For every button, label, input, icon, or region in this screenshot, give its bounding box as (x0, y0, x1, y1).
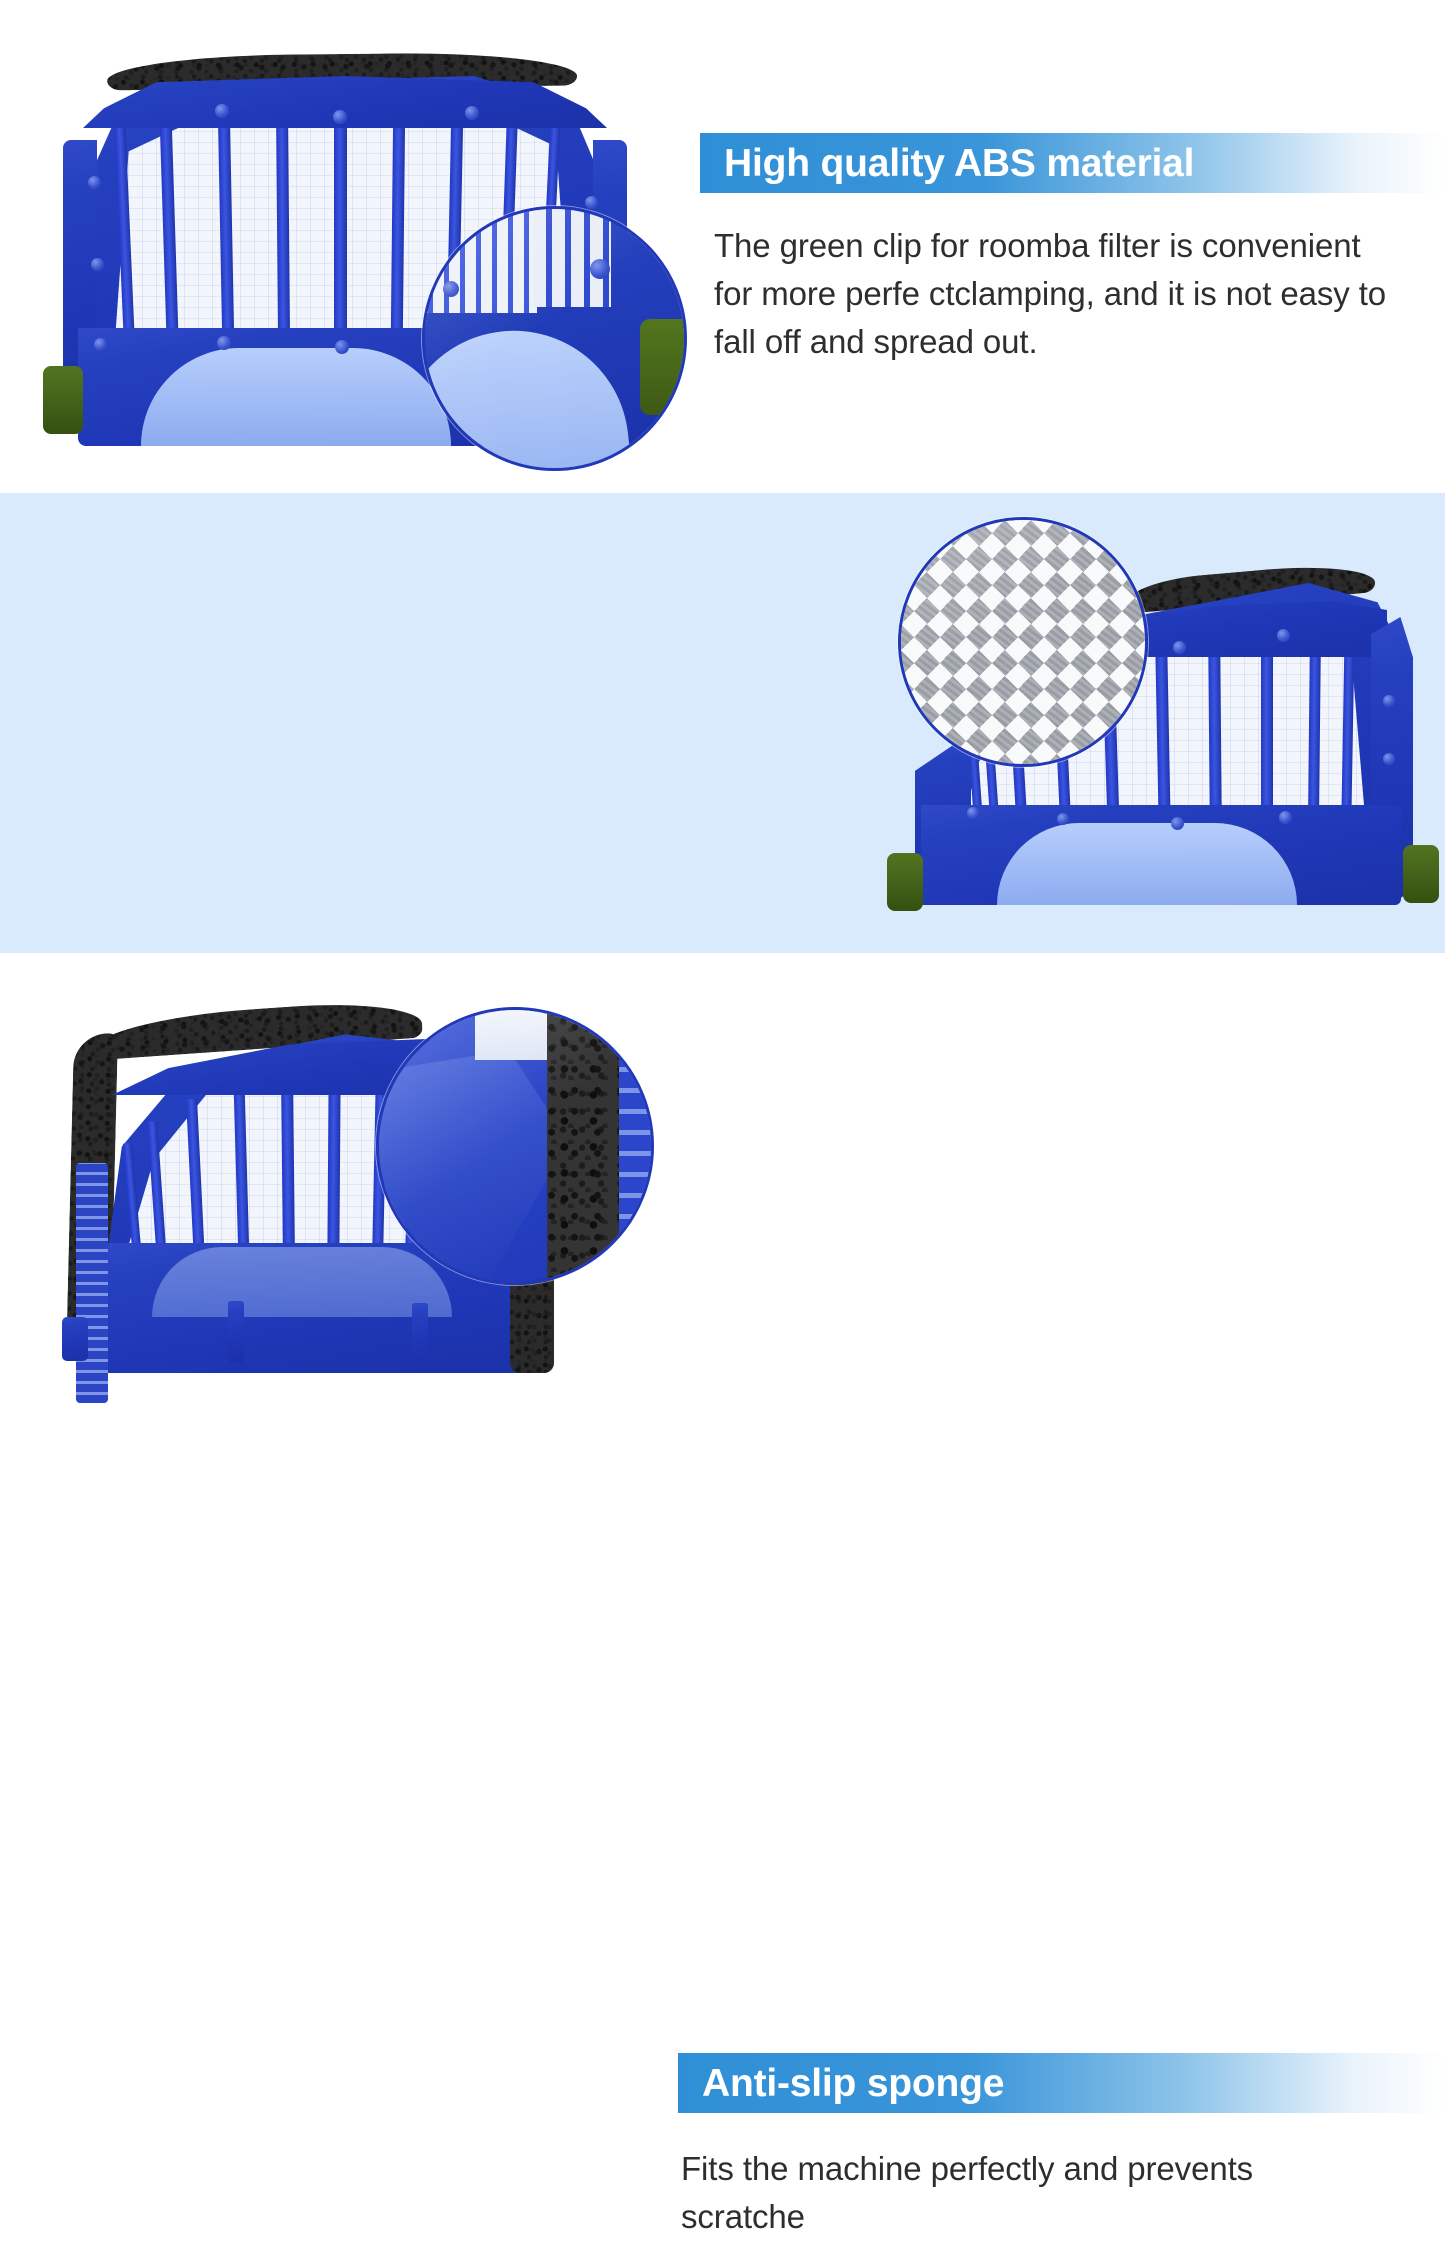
green-clip-right (1403, 845, 1439, 903)
section-hepa-high-efficiency-filtration: HEPA high efficiency filtration Effectiv… (0, 493, 1445, 953)
magnifier-hepa-mesh-detail (898, 517, 1148, 767)
lens-sheen (425, 209, 684, 468)
section-body-abs-material: The green clip for roomba filter is conv… (714, 222, 1394, 367)
filter-rib (334, 103, 347, 341)
screw-dot (91, 258, 104, 271)
product-image-hepa (885, 505, 1445, 935)
filter-rib (391, 105, 405, 342)
screw-dot (967, 807, 979, 819)
screw-dot (1057, 813, 1069, 825)
section-title-abs-material: High quality ABS material (700, 144, 1194, 183)
screw-dot (1171, 817, 1184, 830)
green-clip-left (43, 366, 83, 434)
apron-gloss-highlight (141, 348, 451, 446)
section-high-quality-abs-material: High quality ABS material The green clip… (0, 0, 1445, 493)
apron-gloss-highlight (997, 823, 1297, 905)
screw-dot (1279, 811, 1292, 824)
screw-dot (335, 340, 349, 354)
filter-rib (1208, 645, 1222, 819)
section-header-bar-anti-slip-sponge: Anti-slip sponge (678, 2053, 1445, 2113)
section-header-bar-abs-material: High quality ABS material (700, 133, 1445, 193)
section-title-anti-slip-sponge: Anti-slip sponge (678, 2064, 1004, 2103)
green-clip-left (887, 853, 923, 911)
screw-dot (1277, 629, 1290, 642)
section-body-anti-slip-sponge: Fits the machine perfectly and prevents … (681, 2145, 1381, 2241)
screw-dot (465, 106, 479, 120)
magnifier-green-clip-detail (422, 206, 687, 471)
side-vent-slats (76, 1163, 108, 1403)
screw-dot (1173, 641, 1186, 654)
magnifier-sponge-edge-detail (376, 1007, 654, 1285)
section-anti-slip-sponge: Anti-slip sponge Fits the machine perfec… (0, 953, 1445, 1445)
lens-sheen (379, 1010, 651, 1282)
side-tab-left (62, 1317, 88, 1361)
screw-dot (1383, 753, 1395, 765)
filter-rib (281, 1073, 295, 1261)
screw-dot (1383, 695, 1395, 707)
screw-dot (215, 104, 229, 118)
product-image-abs-material (45, 48, 695, 478)
filter-rib (1308, 633, 1321, 819)
filter-rib (1261, 637, 1273, 819)
screw-dot (217, 336, 231, 350)
screw-dot (88, 176, 101, 189)
product-image-anti-slip-sponge (40, 995, 620, 1405)
filter-rib (327, 1069, 340, 1261)
screw-dot (585, 196, 598, 209)
screw-dot (333, 110, 347, 124)
filter-rib (276, 103, 290, 341)
mounting-tab (412, 1303, 428, 1365)
lens-sheen (901, 520, 1145, 764)
mounting-tab (228, 1301, 244, 1363)
screw-dot (94, 338, 107, 351)
